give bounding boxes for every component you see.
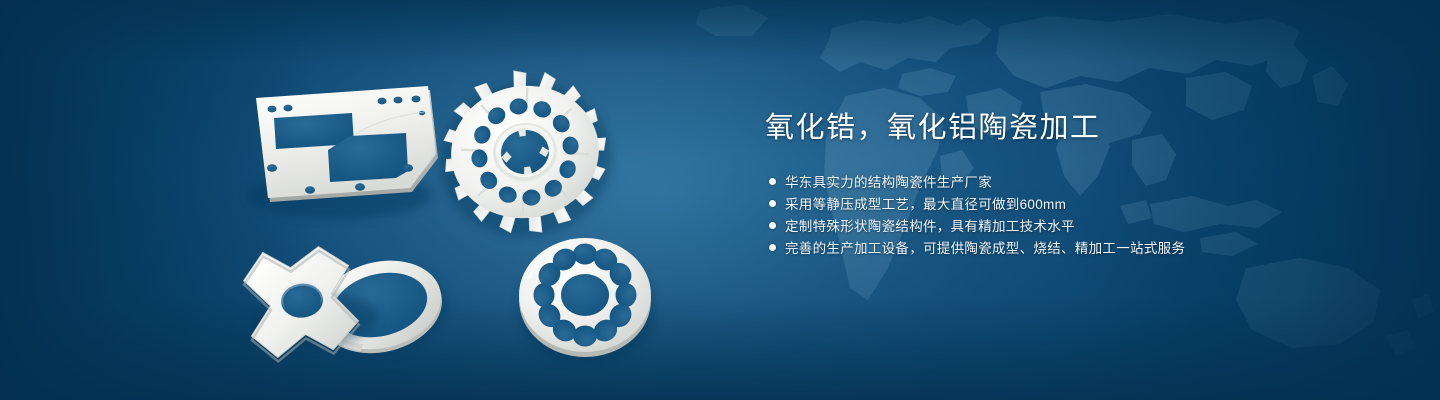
ceramic-perforated-disc-part [519,238,655,367]
ceramic-plate-part [248,86,438,219]
feature-list: 华东具实力的结构陶瓷件生产厂家 采用等静压成型工艺，最大直径可做到600mm 定… [769,170,1325,258]
list-item-label: 采用等静压成型工艺，最大直径可做到600mm [785,193,1066,213]
ceramic-processing-banner: 氧化锆，氧化铝陶瓷加工 华东具实力的结构陶瓷件生产厂家 采用等静压成型工艺，最大… [0,0,1440,400]
bullet-dot-icon [769,178,776,185]
banner-copy: 氧化锆，氧化铝陶瓷加工 华东具实力的结构陶瓷件生产厂家 采用等静压成型工艺，最大… [765,108,1325,258]
bullet-dot-icon [769,222,776,229]
list-item-label: 华东具实力的结构陶瓷件生产厂家 [785,171,992,191]
list-item: 采用等静压成型工艺，最大直径可做到600mm [769,192,1325,214]
list-item: 华东具实力的结构陶瓷件生产厂家 [769,170,1325,192]
ceramic-products-image [230,40,680,370]
ceramic-impeller-part [428,59,621,247]
list-item: 完善的生产加工设备，可提供陶瓷成型、烧结、精加工一站式服务 [769,236,1325,258]
list-item-label: 完善的生产加工设备，可提供陶瓷成型、烧结、精加工一站式服务 [785,237,1185,257]
list-item: 定制特殊形状陶瓷结构件，具有精加工技术水平 [769,214,1325,236]
page-title: 氧化锆，氧化铝陶瓷加工 [765,108,1325,148]
bullet-dot-icon [769,244,776,251]
bullet-dot-icon [769,200,776,207]
list-item-label: 定制特殊形状陶瓷结构件，具有精加工技术水平 [785,215,1075,235]
